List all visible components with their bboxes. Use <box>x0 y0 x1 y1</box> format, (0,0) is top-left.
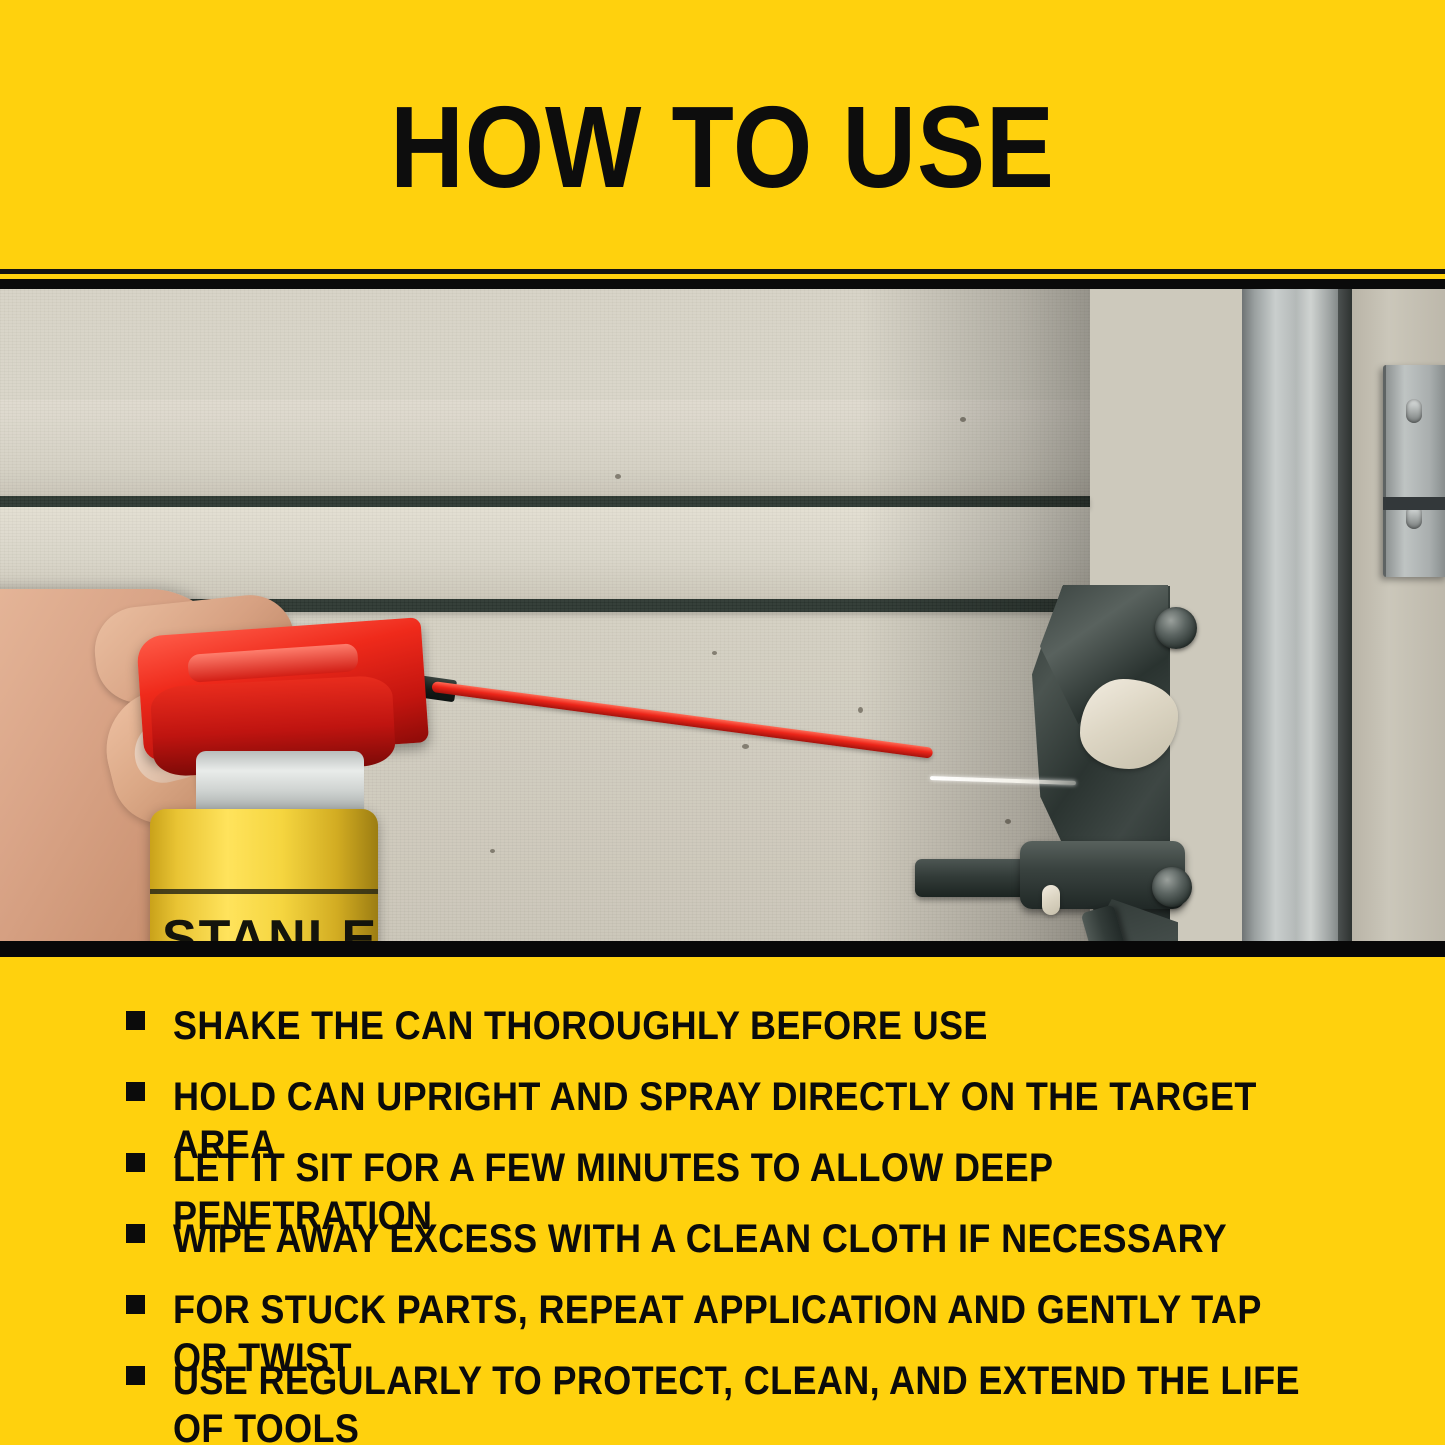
bracket-slot <box>1383 497 1445 510</box>
bracket-hole <box>1406 399 1422 423</box>
track-mounting-bracket <box>1383 365 1445 577</box>
list-item: USE REGULARLY TO PROTECT, CLEAN, AND EXT… <box>126 1357 1445 1445</box>
instructions-list: SHAKE THE CAN THOROUGHLY BEFORE USE HOLD… <box>0 957 1445 1445</box>
door-speck <box>615 474 621 479</box>
bullet-square-icon <box>126 1082 145 1101</box>
door-speck <box>490 849 495 853</box>
hinge-bolt <box>1155 607 1197 649</box>
can-neck <box>196 751 364 817</box>
list-item-label: USE REGULARLY TO PROTECT, CLEAN, AND EXT… <box>173 1357 1318 1445</box>
hinge-bolt <box>1152 867 1192 907</box>
list-item-label: WIPE AWAY EXCESS WITH A CLEAN CLOTH IF N… <box>173 1215 1227 1263</box>
bullet-square-icon <box>126 1224 145 1243</box>
bullet-square-icon <box>126 1011 145 1030</box>
door-speck <box>712 651 717 655</box>
header-band: HOW TO USE <box>0 0 1445 268</box>
can-stripe <box>150 889 378 894</box>
door-speck <box>742 744 749 749</box>
product-usage-photo: STANLE ALL IN ONE Multi Spray Stop squea… <box>0 289 1445 957</box>
how-to-use-infographic: HOW TO USE <box>0 0 1445 1445</box>
bullet-square-icon <box>126 1366 145 1385</box>
list-item: WIPE AWAY EXCESS WITH A CLEAN CLOTH IF N… <box>126 1215 1344 1263</box>
list-item: SHAKE THE CAN THOROUGHLY BEFORE USE <box>126 1002 1078 1050</box>
bullet-square-icon <box>126 1295 145 1314</box>
garage-door-track <box>1242 289 1346 957</box>
list-item-label: SHAKE THE CAN THOROUGHLY BEFORE USE <box>173 1002 988 1050</box>
grease-drip <box>1042 885 1060 915</box>
track-edge <box>1338 289 1352 957</box>
bullet-square-icon <box>126 1153 145 1172</box>
divider-rule-bottom <box>0 279 1445 289</box>
page-title: HOW TO USE <box>87 95 1359 199</box>
photo-bottom-border <box>0 941 1445 957</box>
